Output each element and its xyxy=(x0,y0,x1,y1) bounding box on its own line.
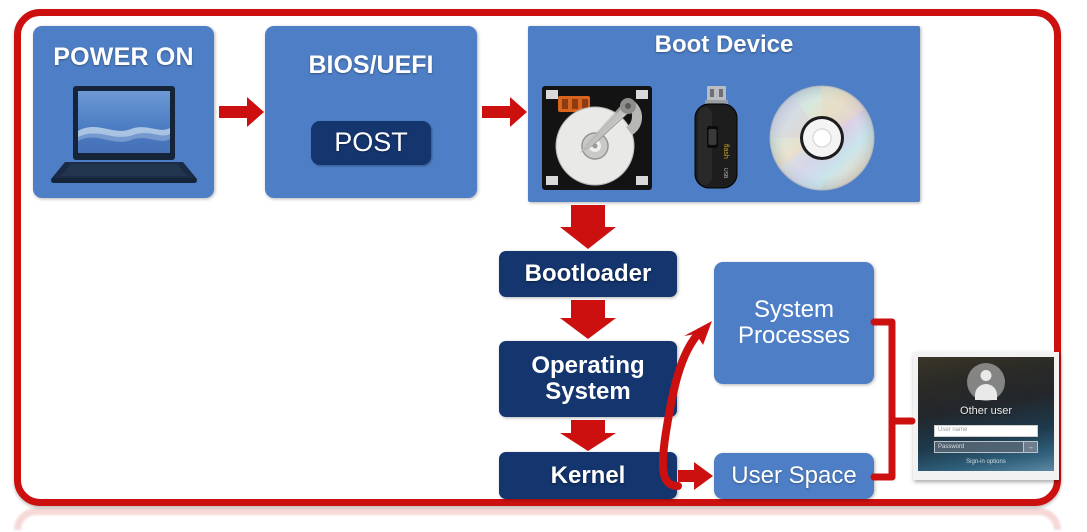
login-signin-options-link[interactable]: Sign-in options xyxy=(918,459,1054,465)
user-avatar-icon xyxy=(967,363,1005,401)
login-other-user-label: Other user xyxy=(918,405,1054,417)
user-space-label: User Space xyxy=(731,463,856,489)
svg-text:flash: flash xyxy=(722,144,729,159)
system-processes-label-line2: Processes xyxy=(738,323,850,349)
hard-disk-drive-icon xyxy=(540,84,654,192)
kernel-label: Kernel xyxy=(551,463,626,489)
node-bootloader[interactable]: Bootloader xyxy=(499,251,677,297)
usb-flash-drive-icon: flash USB xyxy=(683,84,749,192)
login-password-placeholder: Password xyxy=(935,444,1023,450)
bios-uefi-label: BIOS/UEFI xyxy=(265,52,477,79)
operating-system-label-line2: System xyxy=(531,379,644,405)
laptop-icon xyxy=(51,84,197,186)
login-password-input[interactable]: Password → xyxy=(934,441,1038,453)
svg-text:USB: USB xyxy=(722,168,728,179)
operating-system-label-line1: Operating xyxy=(531,353,644,379)
node-power-on[interactable]: POWER ON xyxy=(33,26,214,198)
system-processes-label-line1: System xyxy=(738,297,850,323)
bootloader-label: Bootloader xyxy=(525,261,652,287)
login-username-input[interactable]: User name xyxy=(934,425,1038,437)
login-submit-arrow-icon[interactable]: → xyxy=(1023,442,1037,452)
boot-process-diagram: POWER ON BIOS/UEFI POST Boot Dev xyxy=(0,0,1087,532)
power-on-label: POWER ON xyxy=(33,44,214,71)
node-user-space[interactable]: User Space xyxy=(714,453,874,499)
node-operating-system[interactable]: Operating System xyxy=(499,341,677,417)
node-bios-uefi[interactable]: BIOS/UEFI POST xyxy=(265,26,477,198)
login-username-placeholder: User name xyxy=(935,426,1037,433)
boot-device-label: Boot Device xyxy=(528,32,920,58)
diagram-frame-reflection xyxy=(14,508,1061,530)
login-screen-image: Other user User name Password → Sign-in … xyxy=(913,352,1059,480)
node-boot-device[interactable]: Boot Device xyxy=(528,26,920,202)
login-screen-inner: Other user User name Password → Sign-in … xyxy=(918,357,1054,471)
node-kernel[interactable]: Kernel xyxy=(499,452,677,499)
post-badge: POST xyxy=(311,121,431,165)
optical-disc-icon xyxy=(768,84,876,192)
node-system-processes[interactable]: System Processes xyxy=(714,262,874,384)
post-label: POST xyxy=(334,128,408,157)
